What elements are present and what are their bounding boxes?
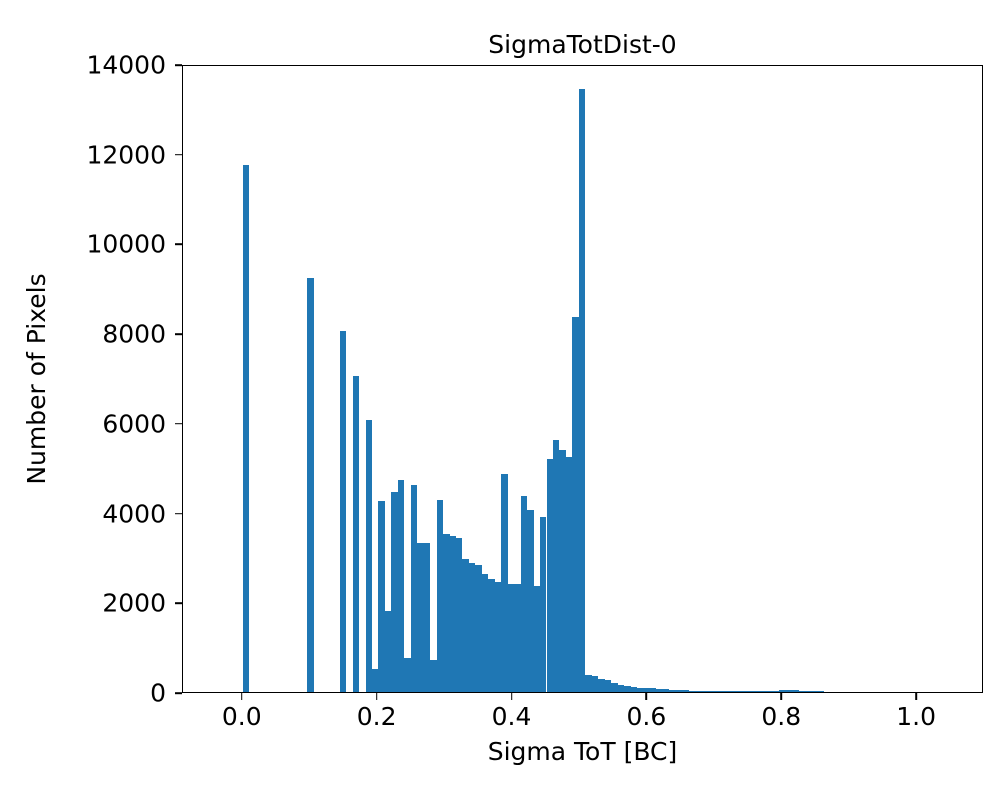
histogram-bar: [702, 691, 708, 692]
histogram-bar: [353, 376, 359, 692]
histogram-bar: [553, 440, 559, 692]
histogram-bar: [385, 611, 391, 692]
histogram-bar: [534, 586, 540, 692]
histogram-bar: [243, 165, 249, 692]
histogram-bar: [740, 691, 746, 692]
y-axis-tick-label: 0: [150, 679, 166, 708]
plot-area: [182, 65, 983, 693]
histogram-bar: [805, 691, 811, 692]
histogram-bar: [618, 685, 624, 692]
y-axis-tick-label: 6000: [102, 409, 166, 438]
histogram-bar: [656, 689, 662, 692]
histogram-bar: [404, 658, 410, 692]
y-axis-tick-label: 4000: [102, 499, 166, 528]
x-axis-tick-mark: [241, 693, 243, 700]
y-axis-tick-label: 12000: [86, 140, 166, 169]
histogram-bar: [424, 543, 430, 692]
y-axis-tick-mark: [175, 64, 182, 66]
histogram-bar: [579, 89, 585, 692]
y-axis-tick-mark: [175, 692, 182, 694]
histogram-bar: [366, 420, 372, 692]
y-axis-tick-mark: [175, 154, 182, 156]
histogram-bar: [766, 691, 772, 692]
histogram-bar: [572, 317, 578, 692]
y-axis-tick-labels: 02000400060008000100001200014000: [0, 65, 166, 693]
histogram-bar: [443, 534, 449, 692]
y-axis-tick-mark: [175, 602, 182, 604]
histogram-bar: [495, 582, 501, 692]
histogram-bar: [592, 676, 598, 692]
y-axis-tick-mark: [175, 513, 182, 515]
x-axis-tick-label: 0.8: [761, 702, 801, 731]
chart-title: SigmaTotDist-0: [182, 30, 983, 59]
figure-canvas: SigmaTotDist-0 Number of Pixels 02000400…: [0, 0, 1000, 800]
x-axis-tick-label: 1.0: [896, 702, 936, 731]
histogram-bar: [818, 691, 824, 692]
x-axis-tick-labels: 0.00.20.40.60.81.0: [182, 702, 983, 742]
histogram-bar: [307, 278, 313, 692]
y-axis-tick-label: 10000: [86, 230, 166, 259]
y-axis-tick-mark: [175, 244, 182, 246]
x-axis-tick-mark: [915, 693, 917, 700]
x-axis-tick-mark: [646, 693, 648, 700]
histogram-bar: [469, 563, 475, 692]
x-axis-tick-mark: [376, 693, 378, 700]
histogram-bar: [676, 690, 682, 692]
histogram-bar: [508, 584, 514, 692]
y-axis-tick-mark: [175, 423, 182, 425]
x-axis-tick-mark: [511, 693, 513, 700]
y-axis-tick-label: 2000: [102, 589, 166, 618]
histogram-bar: [637, 688, 643, 692]
histogram-bar: [786, 690, 792, 692]
x-axis-tick-label: 0.2: [357, 702, 397, 731]
x-axis-tick-label: 0.6: [627, 702, 667, 731]
y-axis-tick-label: 14000: [86, 51, 166, 80]
x-axis-tick-label: 0.4: [492, 702, 532, 731]
x-axis-label: Sigma ToT [BC]: [182, 737, 983, 766]
x-axis-tick-mark: [780, 693, 782, 700]
x-axis-tick-label: 0.0: [222, 702, 262, 731]
histogram-bar: [340, 331, 346, 692]
histogram-bars: [183, 66, 982, 692]
y-axis-tick-label: 8000: [102, 320, 166, 349]
y-axis-tick-mark: [175, 333, 182, 335]
x-axis-tick-marks: [182, 693, 983, 702]
